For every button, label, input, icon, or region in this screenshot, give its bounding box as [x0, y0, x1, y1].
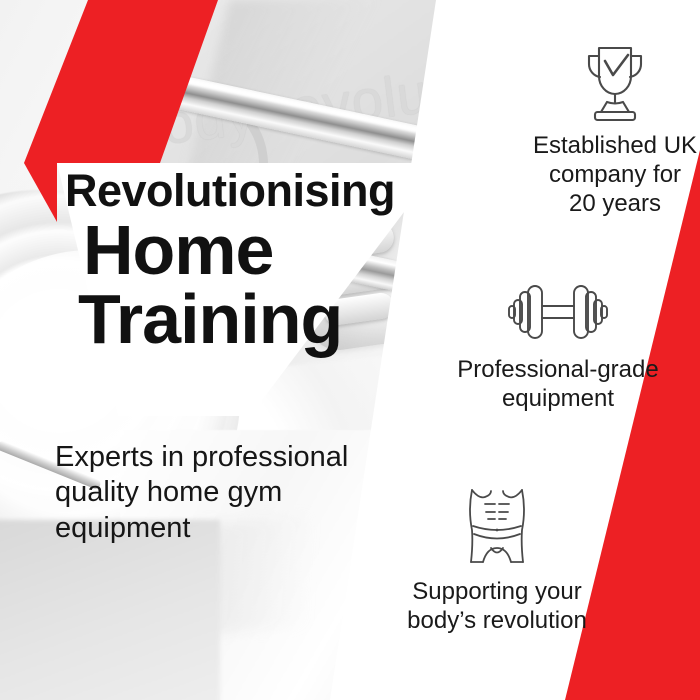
feature-item-body: Supporting your body’s revolution	[382, 486, 612, 636]
trophy-check-icon	[520, 42, 700, 124]
feature-item-established: Established UK company for 20 years	[520, 42, 700, 218]
feature-label: Professional-grade equipment	[450, 356, 666, 414]
torso-abs-icon	[382, 486, 612, 570]
feature-label: Established UK company for 20 years	[520, 132, 700, 218]
feature-list: Established UK company for 20 years	[372, 0, 700, 700]
dumbbell-icon	[450, 276, 666, 348]
sub-copy: Experts in professional quality home gym…	[55, 440, 405, 546]
promo-poster: body revolution Revolutionising Home Tra…	[0, 0, 700, 700]
red-band-top	[24, 0, 218, 163]
red-arrow-tail	[24, 163, 57, 222]
feature-label: Supporting your body’s revolution	[382, 578, 612, 636]
feature-item-equipment: Professional-grade equipment	[450, 276, 666, 414]
